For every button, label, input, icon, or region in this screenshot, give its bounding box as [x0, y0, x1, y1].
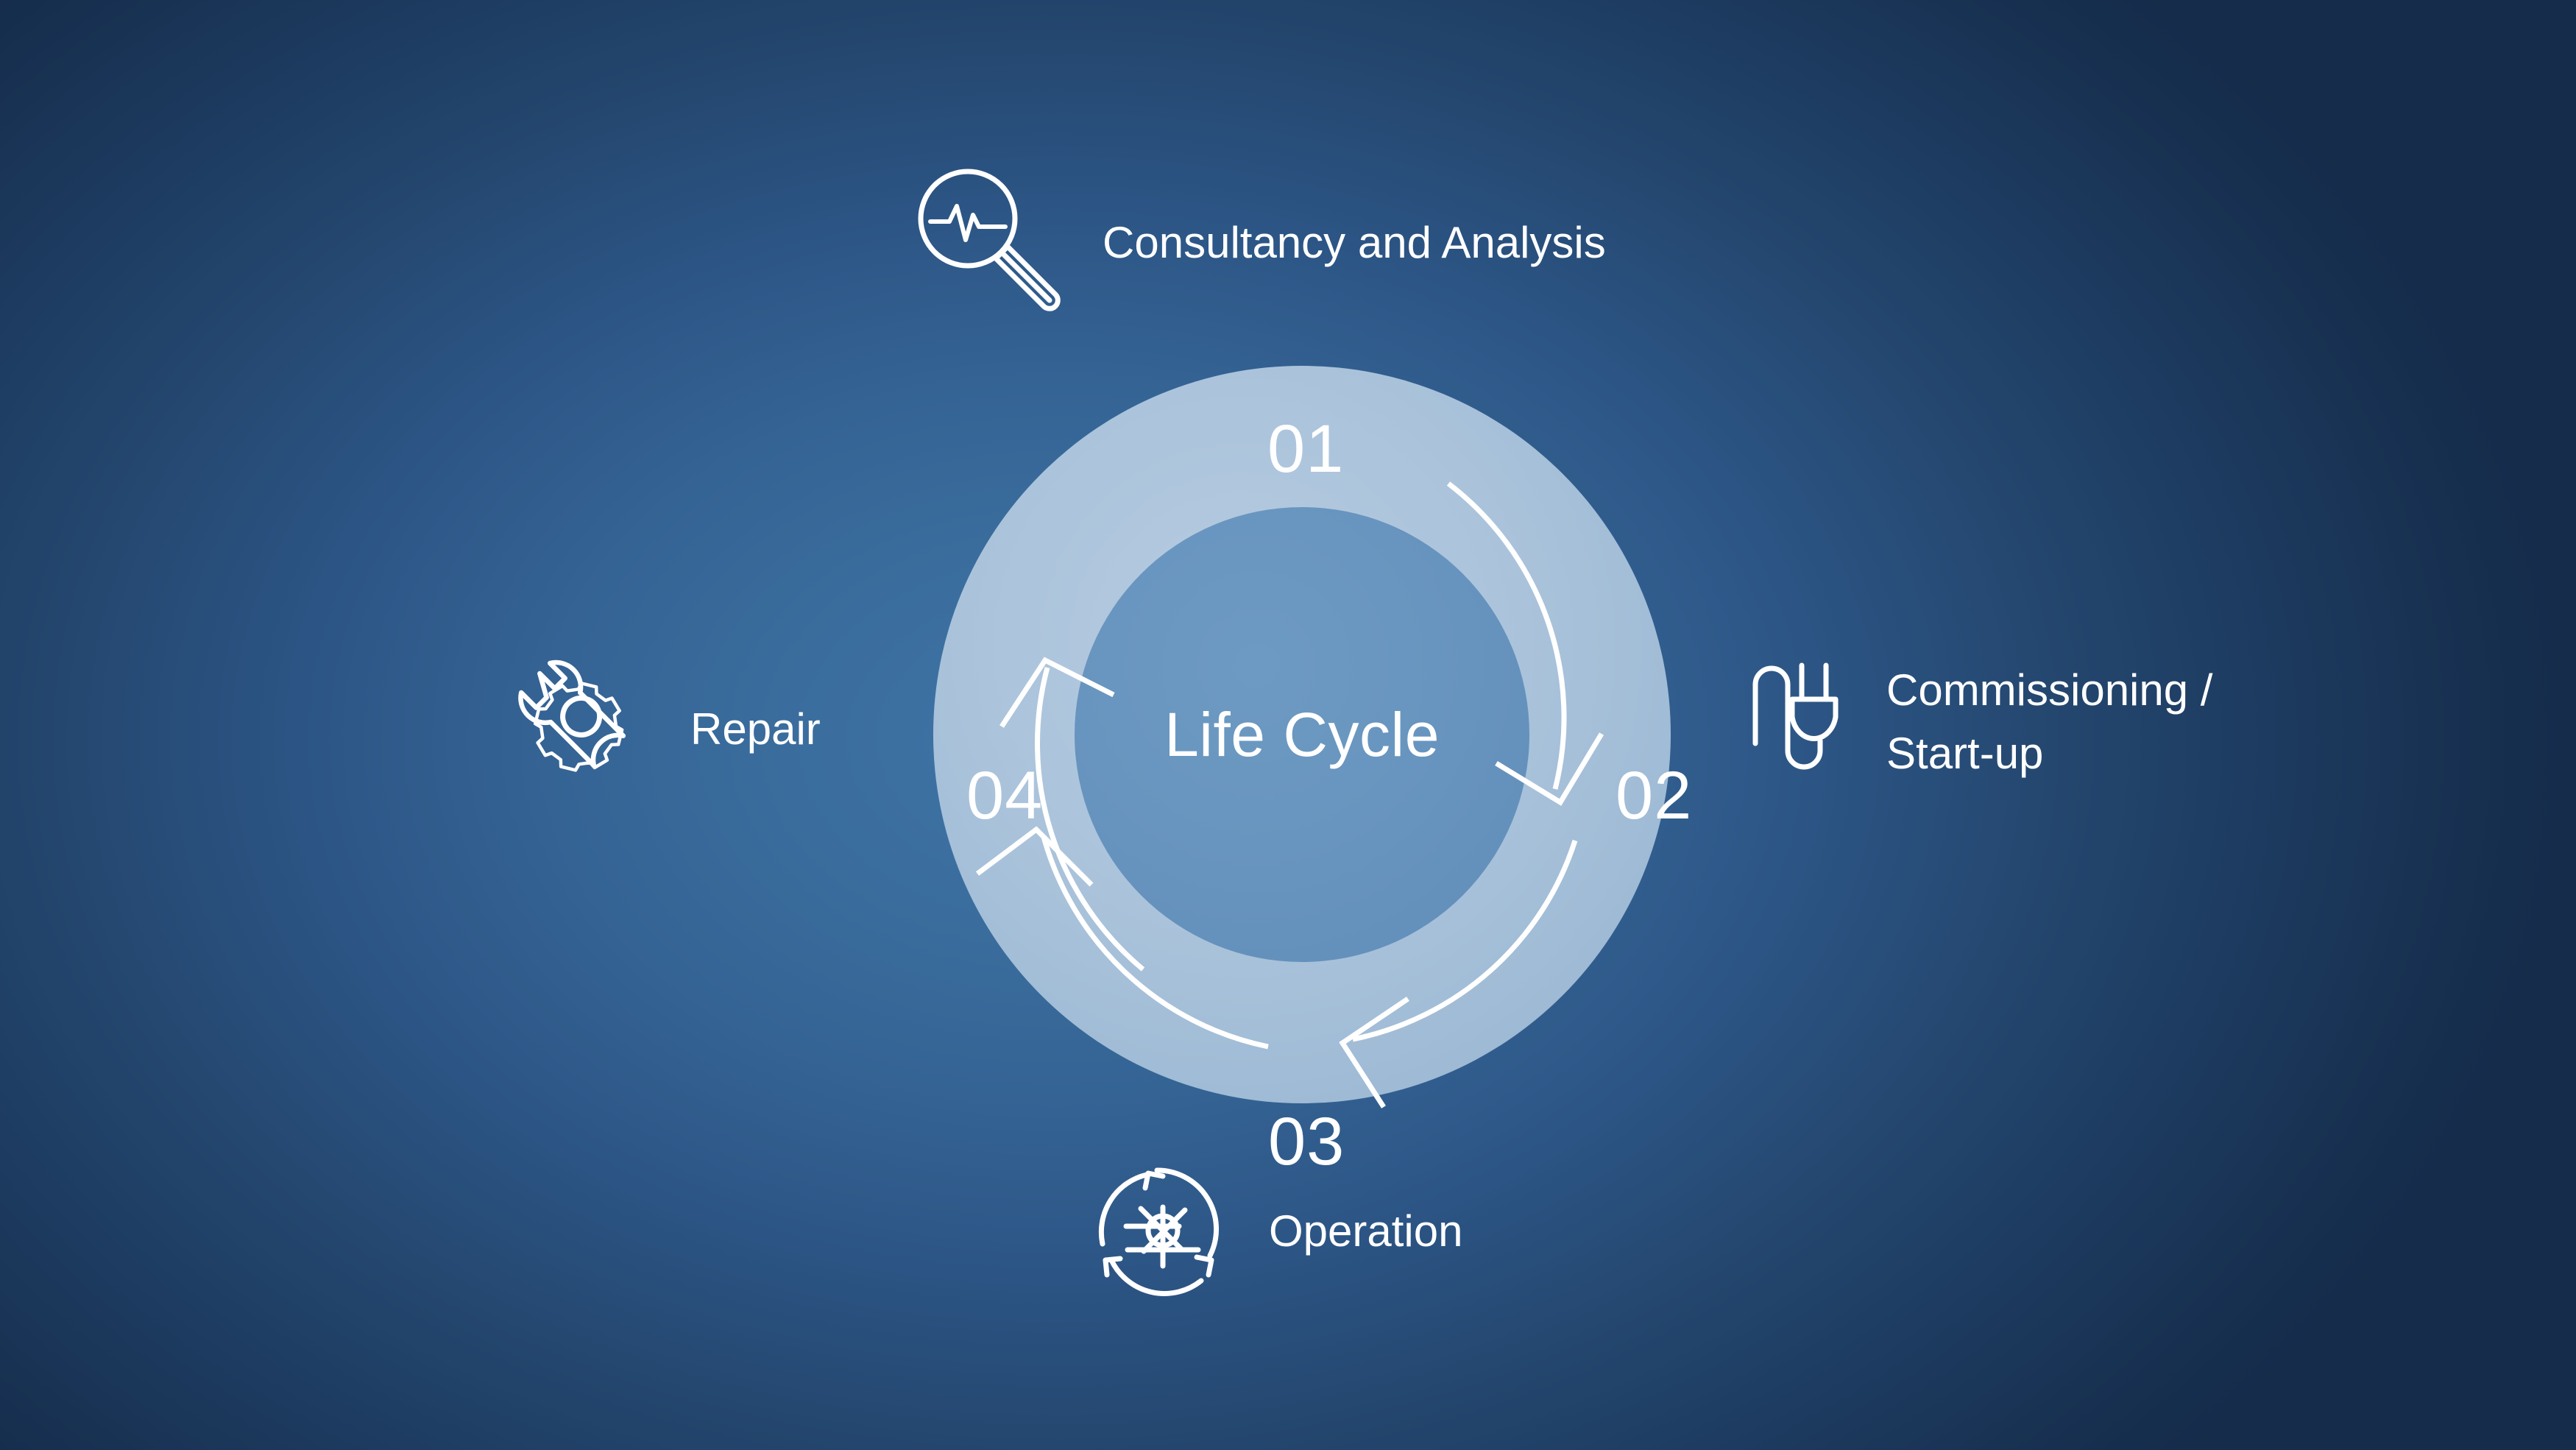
- step-number-02: 02: [1616, 762, 1692, 830]
- life-cycle-diagram: Life Cycle 01 02 03 04 Consultancy and A…: [0, 0, 2576, 1450]
- step-number-01: 01: [1267, 415, 1344, 483]
- step-item-repair[interactable]: Repair: [508, 654, 821, 804]
- step-label-repair: Repair: [690, 698, 821, 760]
- wrench-gear-icon: [508, 654, 655, 804]
- step-item-consultancy[interactable]: Consultancy and Analysis: [913, 163, 1606, 322]
- step-item-commissioning[interactable]: Commissioning / Start-up: [1748, 654, 2212, 790]
- step-label-commissioning: Commissioning / Start-up: [1886, 659, 2212, 784]
- magnifier-pulse-icon: [913, 163, 1067, 322]
- step-item-operation[interactable]: Operation: [1089, 1156, 1463, 1306]
- power-plug-icon: [1748, 654, 1844, 790]
- cycle-refresh-icon: [1089, 1156, 1236, 1306]
- step-label-consultancy: Consultancy and Analysis: [1103, 211, 1606, 274]
- step-label-operation: Operation: [1269, 1200, 1463, 1262]
- step-number-04: 04: [966, 762, 1043, 830]
